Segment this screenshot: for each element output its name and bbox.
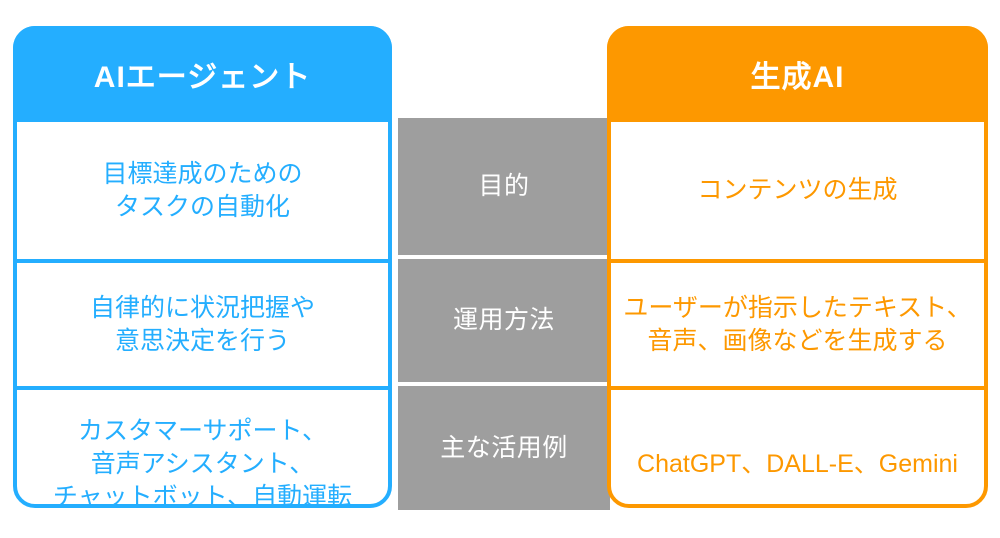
generative-ai-card: 生成AI コンテンツの生成 ユーザーが指示したテキスト、 音声、画像などを生成す… [607, 26, 988, 508]
comparison-table: 目的 運用方法 主な活用例 AIエージェント 目標達成のための タスクの自動化 [0, 0, 1000, 524]
criteria-column: 目的 運用方法 主な活用例 [398, 118, 610, 510]
cell-line: 自律的に状況把握や [90, 292, 315, 325]
ai-agent-usecases-text: カスタマーサポート、 音声アシスタント、 チャットボット、自動運転 [53, 415, 352, 514]
generative-ai-header: 生成AI [607, 26, 988, 122]
criteria-label-operation: 運用方法 [398, 259, 610, 382]
cell-line: 意思決定を行う [90, 325, 315, 358]
criteria-label-text: 目的 [478, 170, 529, 203]
cell-line: ユーザーが指示したテキスト、 [623, 292, 971, 325]
ai-agent-header-title: AIエージェント [94, 52, 311, 96]
ai-agent-operation-cell: 自律的に状況把握や 意思決定を行う [17, 263, 388, 386]
ai-agent-operation-text: 自律的に状況把握や 意思決定を行う [90, 292, 315, 358]
criteria-label-text: 運用方法 [453, 304, 555, 337]
generative-ai-operation-text: ユーザーが指示したテキスト、 音声、画像などを生成する [623, 292, 971, 358]
criteria-label-text: 主な活用例 [440, 432, 568, 465]
generative-ai-purpose-cell: コンテンツの生成 [611, 122, 984, 259]
generative-ai-header-title: 生成AI [751, 52, 845, 96]
generative-ai-usecases-cell: ChatGPT、DALL-E、Gemini [611, 390, 984, 538]
ai-agent-card: AIエージェント 目標達成のための タスクの自動化 自律的に状況把握や 意思決定… [13, 26, 392, 508]
ai-agent-header: AIエージェント [13, 26, 392, 122]
ai-agent-purpose-cell: 目標達成のための タスクの自動化 [17, 122, 388, 259]
generative-ai-operation-cell: ユーザーが指示したテキスト、 音声、画像などを生成する [611, 263, 984, 386]
ai-agent-body: 目標達成のための タスクの自動化 自律的に状況把握や 意思決定を行う カスタマー… [17, 122, 388, 504]
cell-line: 音声、画像などを生成する [623, 325, 971, 358]
ai-agent-usecases-cell: カスタマーサポート、 音声アシスタント、 チャットボット、自動運転 [17, 390, 388, 538]
cell-line: タスクの自動化 [102, 191, 302, 224]
cell-line: チャットボット、自動運転 [53, 481, 352, 514]
generative-ai-purpose-text: コンテンツの生成 [697, 174, 897, 207]
generative-ai-body: コンテンツの生成 ユーザーが指示したテキスト、 音声、画像などを生成する Cha… [611, 122, 984, 504]
generative-ai-usecases-text: ChatGPT、DALL-E、Gemini [637, 448, 958, 481]
cell-line: 目標達成のための [102, 158, 302, 191]
cell-line: 音声アシスタント、 [53, 448, 352, 481]
cell-line: コンテンツの生成 [697, 174, 897, 207]
ai-agent-purpose-text: 目標達成のための タスクの自動化 [102, 158, 302, 224]
cell-line: カスタマーサポート、 [53, 415, 352, 448]
cell-line: ChatGPT、DALL-E、Gemini [637, 448, 958, 481]
criteria-label-purpose: 目的 [398, 118, 610, 255]
criteria-label-usecases: 主な活用例 [398, 386, 610, 510]
